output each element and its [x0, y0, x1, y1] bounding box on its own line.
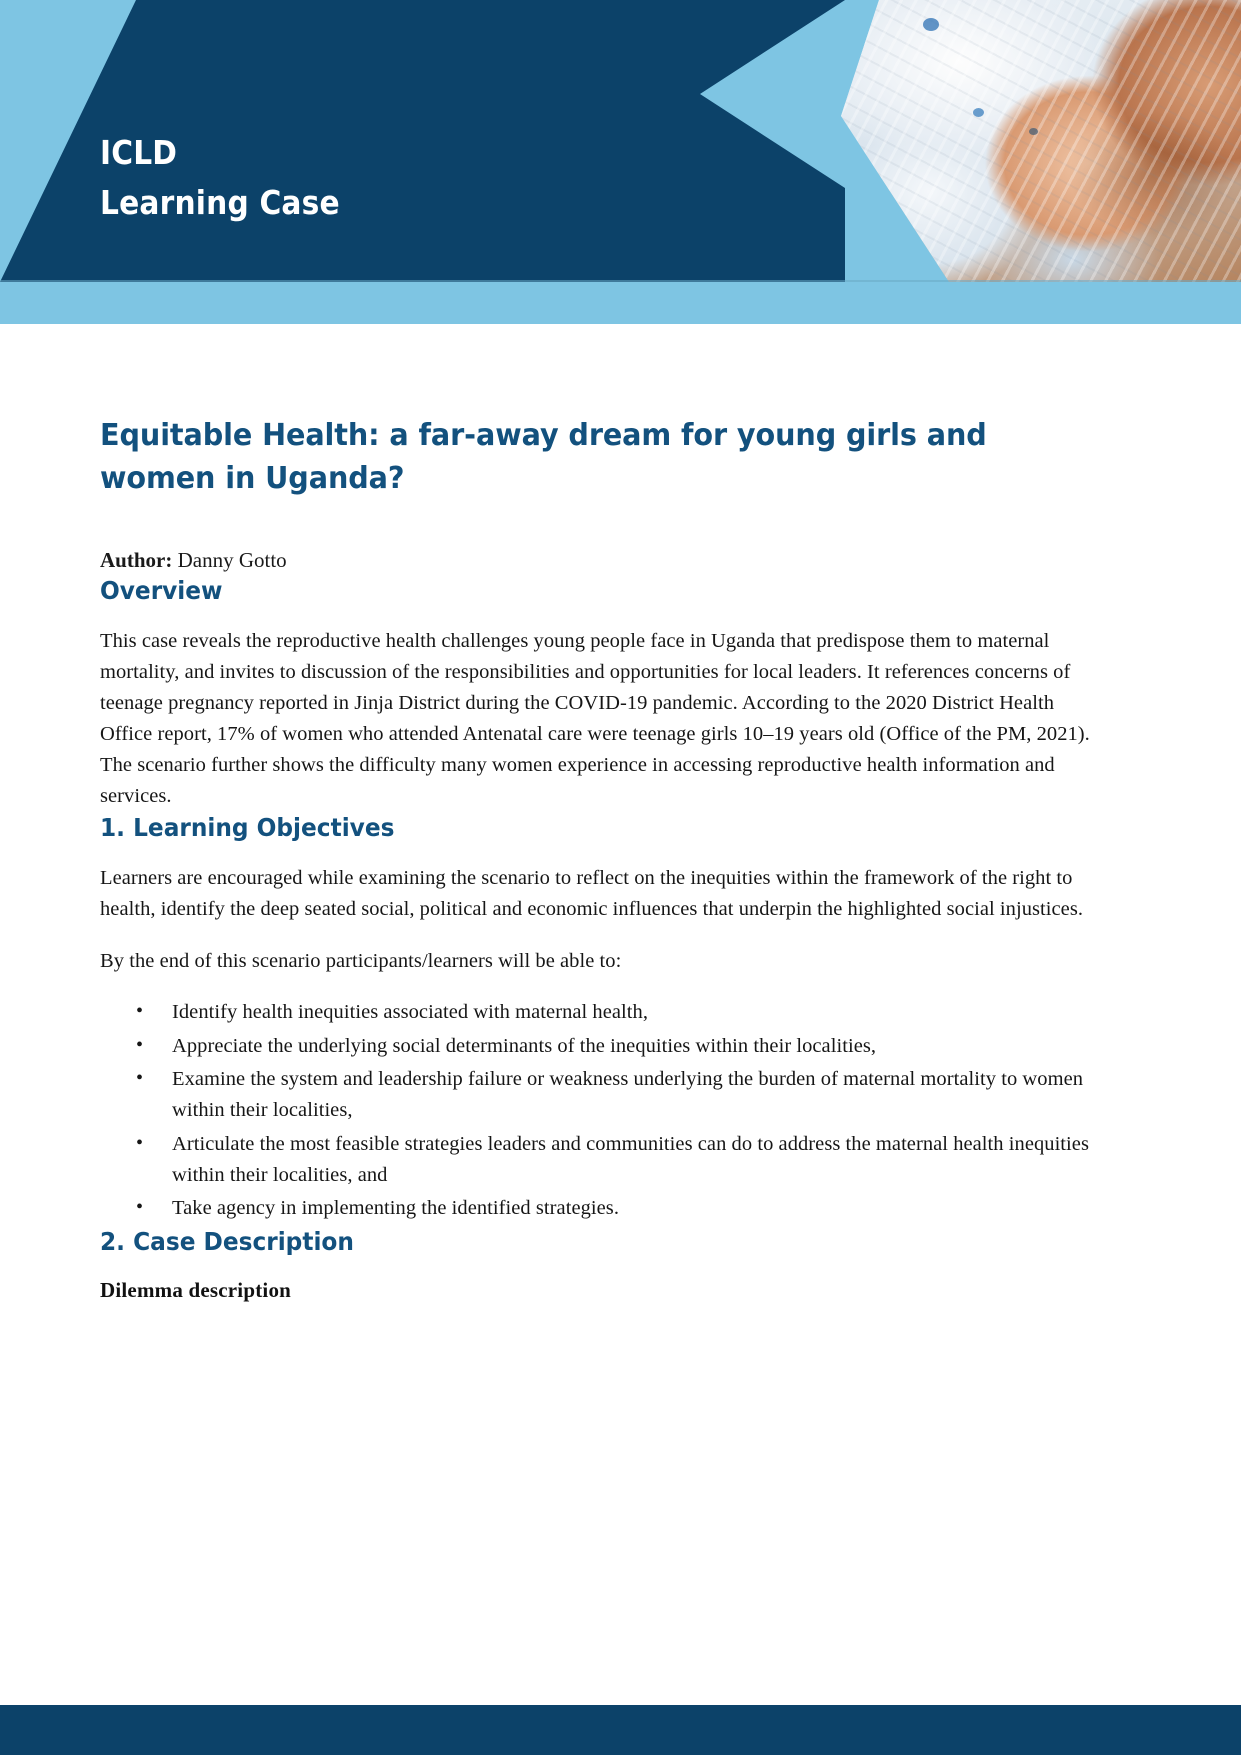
section-heading-case-description: 2. Case Description — [100, 1227, 1039, 1256]
photo-detail-dot — [973, 108, 984, 117]
document-body: Equitable Health: a far-away dream for y… — [100, 415, 1110, 1303]
header-photo — [841, 0, 1241, 282]
section-heading-learning-objectives: 1. Learning Objectives — [100, 813, 1039, 842]
header-photo-image — [841, 0, 1241, 282]
overview-paragraph: This case reveals the reproductive healt… — [100, 626, 1110, 813]
page-title: Equitable Health: a far-away dream for y… — [100, 415, 1065, 500]
list-item: Take agency in implementing the identifi… — [100, 1193, 1110, 1224]
section-heading-overview: Overview — [100, 576, 1039, 605]
list-item: Appreciate the underlying social determi… — [100, 1031, 1110, 1062]
page-footer-bar — [0, 1705, 1241, 1755]
learning-objectives-list: Identify health inequities associated wi… — [100, 997, 1110, 1224]
author-line: Author: Danny Gotto — [100, 546, 1110, 575]
page-header: ICLD Learning Case — [0, 0, 1241, 282]
list-item: Articulate the most feasible strategies … — [100, 1129, 1110, 1191]
learning-objectives-paragraph-2: By the end of this scenario participants… — [100, 946, 1110, 977]
list-item: Examine the system and leadership failur… — [100, 1064, 1110, 1126]
learning-objectives-paragraph-1: Learners are encouraged while examining … — [100, 863, 1110, 925]
header-brand: ICLD Learning Case — [100, 128, 366, 228]
photo-detail-dot — [1029, 128, 1038, 135]
brand-line-icld: ICLD — [100, 128, 340, 178]
header-light-blue-strip — [0, 282, 1241, 324]
author-label: Author: — [100, 548, 172, 572]
photo-detail-dot — [923, 18, 939, 31]
dilemma-description-subheading: Dilemma description — [100, 1278, 1110, 1303]
brand-line-learning-case: Learning Case — [100, 178, 340, 228]
list-item: Identify health inequities associated wi… — [100, 997, 1110, 1028]
author-name: Danny Gotto — [178, 548, 287, 572]
